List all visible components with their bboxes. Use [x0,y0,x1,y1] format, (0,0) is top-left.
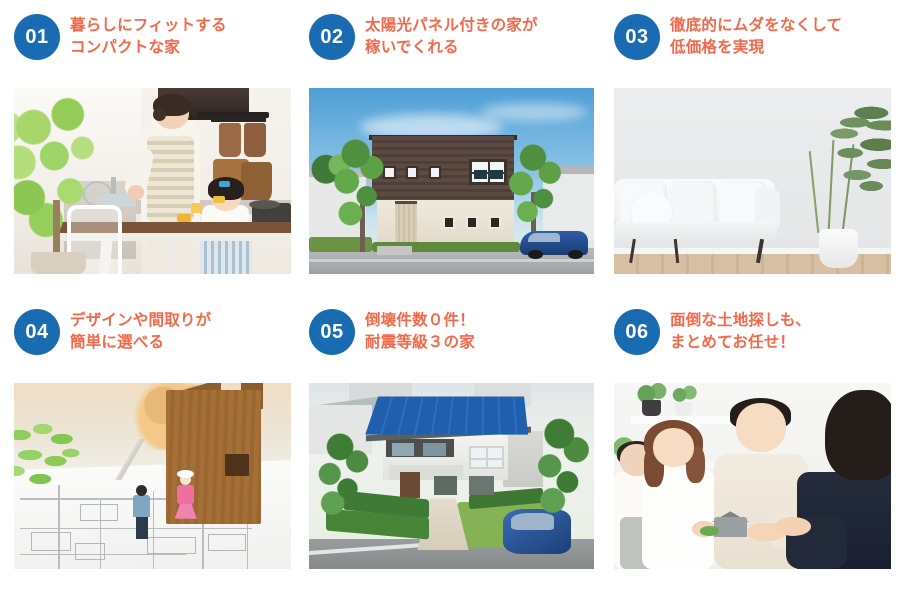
photo-solar-panel-house [309,383,594,569]
card-header: 05 倒壊件数０件！ 耐震等級３の家 [309,307,594,369]
card-header: 06 面倒な土地探しも、 まとめてお任せ！ [614,307,889,369]
feature-card-03[interactable]: 03 徹底的にムダをなくして 低価格を実現 [600,0,895,295]
card-header: 01 暮らしにフィットする コンパクトな家 [14,12,289,74]
feature-title: 太陽光パネル付きの家が 稼いでくれる [365,12,538,59]
feature-title: 倒壊件数０件！ 耐震等級３の家 [365,307,475,354]
feature-title: 暮らしにフィットする コンパクトな家 [70,12,227,59]
photo-floorplan-house-model [14,383,291,569]
feature-number-badge: 02 [309,14,355,60]
feature-card-04[interactable]: 04 デザインや間取りが 簡単に選べる [0,295,295,590]
feature-number-badge: 04 [14,309,60,355]
feature-number-badge: 01 [14,14,60,60]
card-header: 03 徹底的にムダをなくして 低価格を実現 [614,12,889,74]
feature-number-badge: 03 [614,14,660,60]
feature-card-06[interactable]: 06 面倒な土地探しも、 まとめてお任せ！ [600,295,895,590]
card-header: 02 太陽光パネル付きの家が 稼いでくれる [309,12,594,74]
photo-white-living-room [614,88,891,274]
feature-card-05[interactable]: 05 倒壊件数０件！ 耐震等級３の家 [295,295,600,590]
feature-title: 徹底的にムダをなくして 低価格を実現 [670,12,842,59]
card-header: 04 デザインや間取りが 簡単に選べる [14,307,289,369]
feature-board: 01 暮らしにフィットする コンパクトな家 [0,0,900,600]
photo-modern-house-exterior [309,88,594,274]
feature-number-badge: 06 [614,309,660,355]
feature-card-01[interactable]: 01 暮らしにフィットする コンパクトな家 [0,0,295,295]
photo-family-consultation [614,383,891,569]
feature-number-badge: 05 [309,309,355,355]
feature-card-02[interactable]: 02 太陽光パネル付きの家が 稼いでくれる [295,0,600,295]
feature-grid: 01 暮らしにフィットする コンパクトな家 [0,0,900,600]
feature-title: 面倒な土地探しも、 まとめてお任せ！ [670,307,811,354]
feature-title: デザインや間取りが 簡単に選べる [70,307,211,354]
photo-kitchen-mother-child [14,88,291,274]
